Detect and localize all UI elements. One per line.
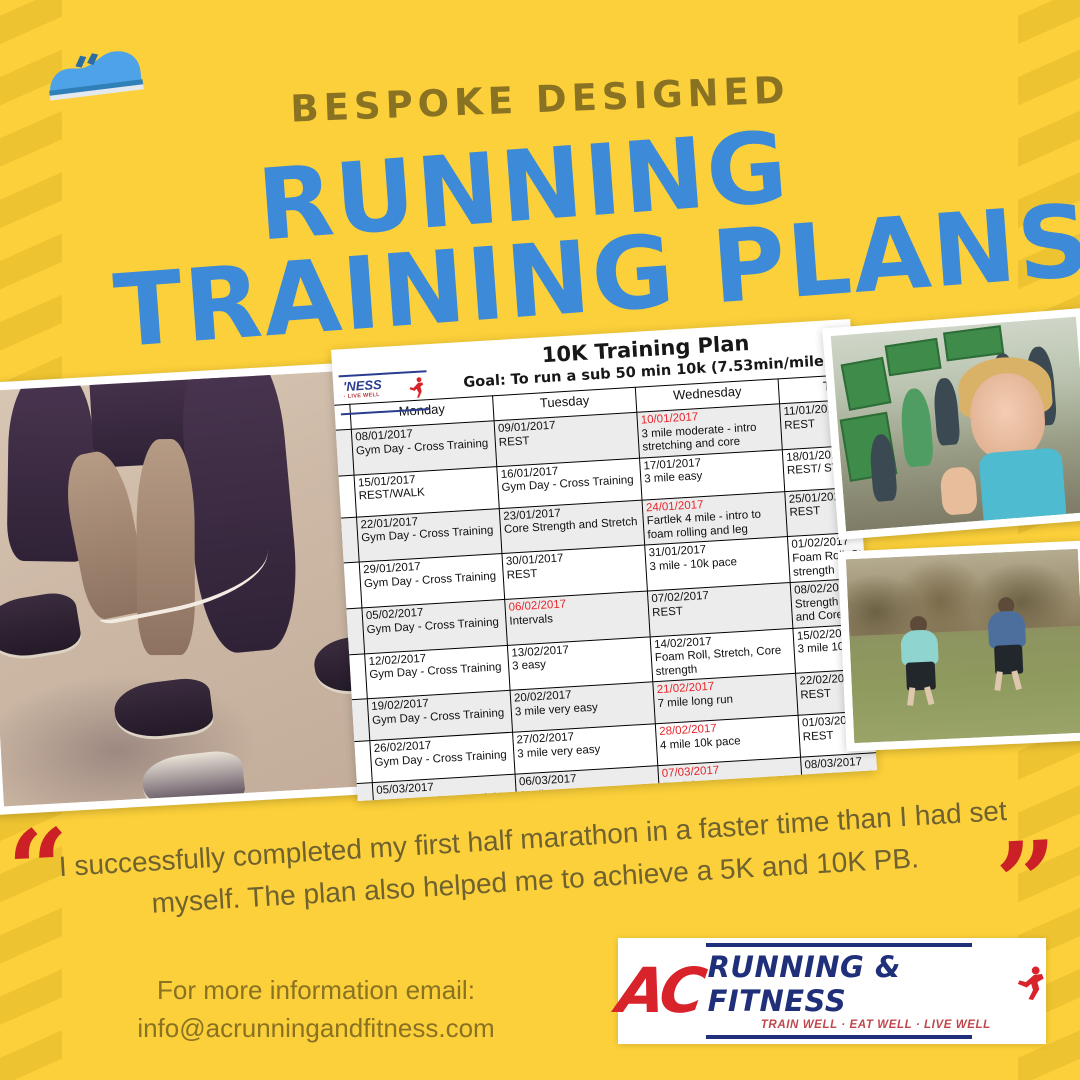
runner-icon bbox=[407, 376, 426, 399]
runners-legs-photo-image bbox=[0, 369, 391, 806]
race-selfie-photo-image bbox=[831, 317, 1080, 532]
poster-canvas: BESPOKE DESIGNED RUNNING TRAINING PLANS bbox=[0, 0, 1080, 1080]
plan-day-cell: 07/03/2017Fartlek bbox=[658, 758, 803, 801]
plan-day-cell: 08/03/2017REST bbox=[801, 749, 877, 799]
training-plan-document: 'NESS · LIVE WELL 10K Training Plan Goal… bbox=[331, 319, 877, 801]
plan-logo-fragment: 'NESS · LIVE WELL bbox=[339, 370, 429, 415]
park-run-photo bbox=[838, 540, 1080, 751]
logo-runner-icon bbox=[1016, 963, 1046, 1003]
testimonial-quote: I successfully completed my first half m… bbox=[52, 790, 1015, 931]
logo-name: RUNNING & FITNESS bbox=[708, 950, 1014, 1018]
park-run-photo-image bbox=[846, 549, 1080, 743]
table-body: 08/01/2017Gym Day - Cross Training09/01/… bbox=[331, 395, 877, 801]
race-selfie-photo bbox=[822, 308, 1080, 540]
logo-bar-bottom bbox=[706, 1035, 972, 1039]
contact-email[interactable]: info@acrunningandfitness.com bbox=[66, 1010, 566, 1048]
brand-logo: AC RUNNING & FITNESS TRAIN WELL · EAT WE… bbox=[618, 938, 1046, 1044]
training-plan-table: MondayTuesdayWednesdayThursday 08/01/201… bbox=[331, 370, 877, 801]
logo-ac-mark: AC bbox=[614, 960, 706, 1022]
contact-label: For more information email: bbox=[66, 972, 566, 1010]
contact-block: For more information email: info@acrunni… bbox=[66, 972, 566, 1047]
logo-tagline: TRAIN WELL · EAT WELL · LIVE WELL bbox=[706, 1019, 1046, 1031]
